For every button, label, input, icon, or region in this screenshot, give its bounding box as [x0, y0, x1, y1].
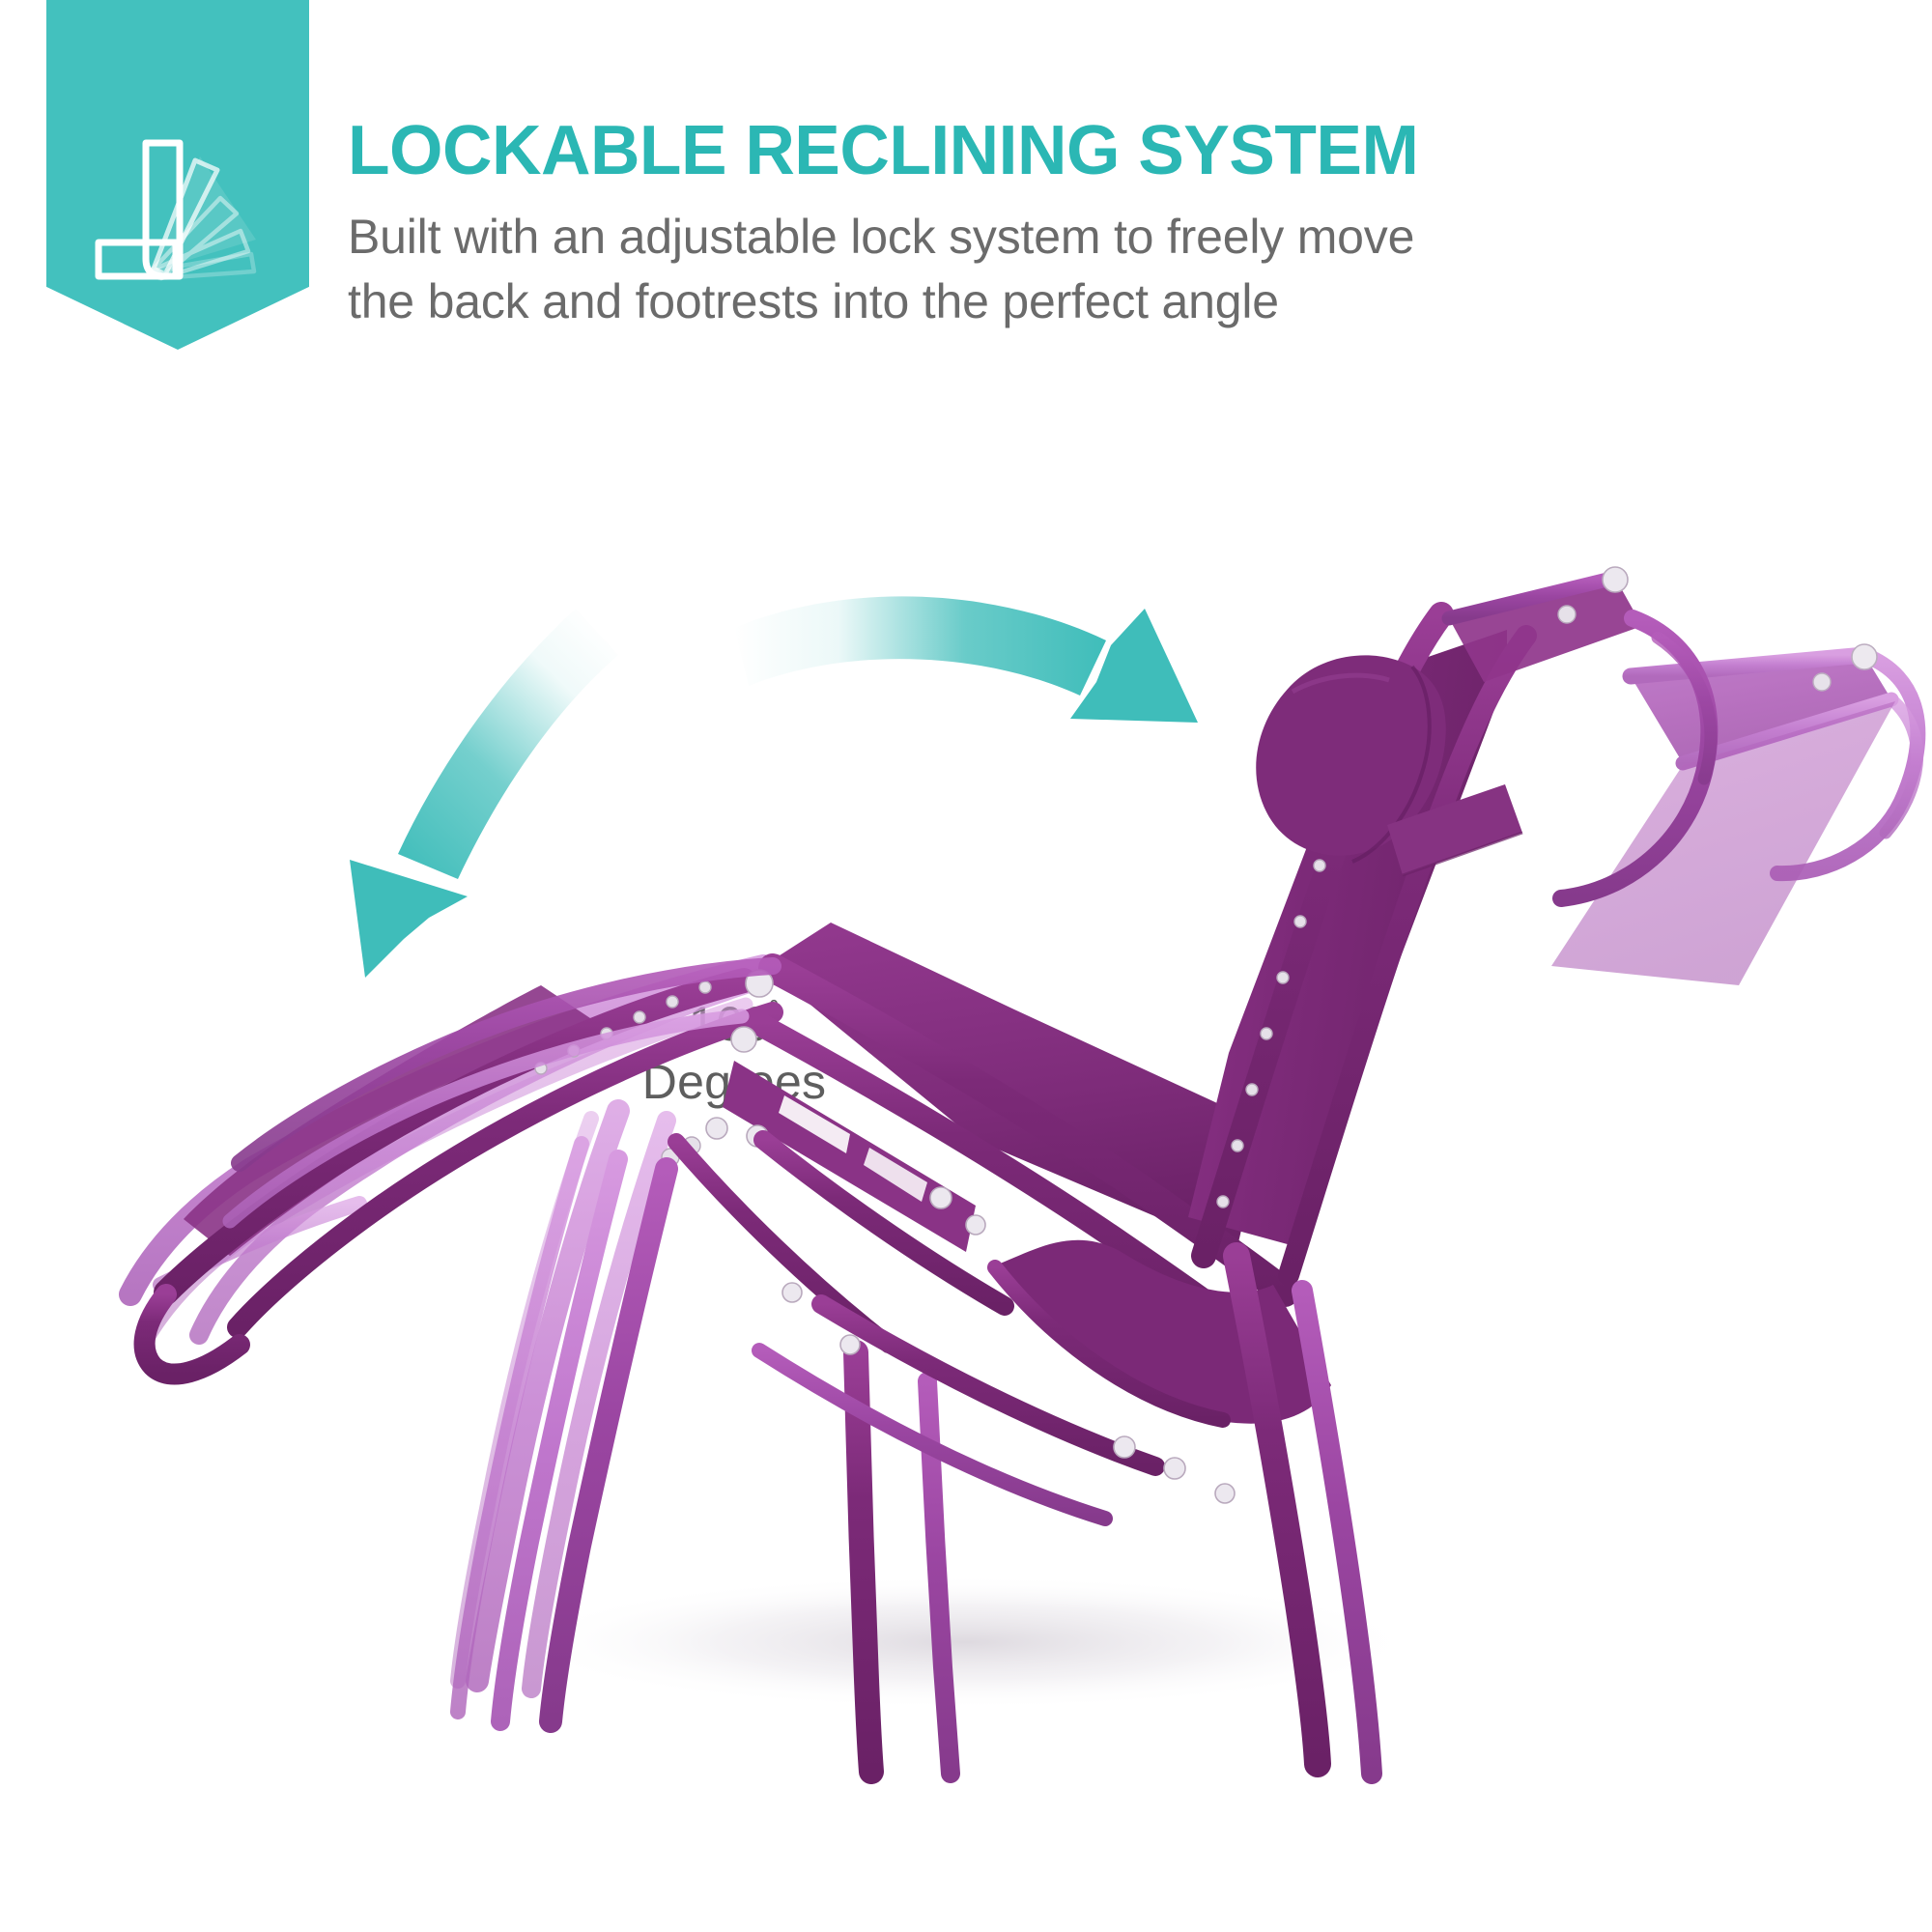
degree-symbol-icon: ˚ — [770, 996, 781, 1030]
page-subtitle-line-2: the back and footrests into the perfect … — [348, 270, 1932, 334]
page-subtitle-line-1: Built with an adjustable lock system to … — [348, 205, 1932, 270]
reclining-backrest-fan-icon — [86, 124, 270, 290]
recline-angle-value: 160 — [689, 997, 770, 1051]
recline-angle-value-line: 160˚ — [609, 995, 860, 1053]
feature-icon-banner — [46, 0, 309, 350]
feature-header: LOCKABLE RECLINING SYSTEM Built with an … — [0, 0, 1932, 415]
recline-angle-unit: Degrees — [609, 1053, 860, 1111]
recline-angle-label: 160˚ Degrees — [609, 995, 860, 1111]
page-title: LOCKABLE RECLINING SYSTEM — [348, 116, 1917, 185]
page-subtitle: Built with an adjustable lock system to … — [348, 205, 1932, 333]
product-illustration-stage: 160˚ Degrees — [0, 415, 1932, 1932]
